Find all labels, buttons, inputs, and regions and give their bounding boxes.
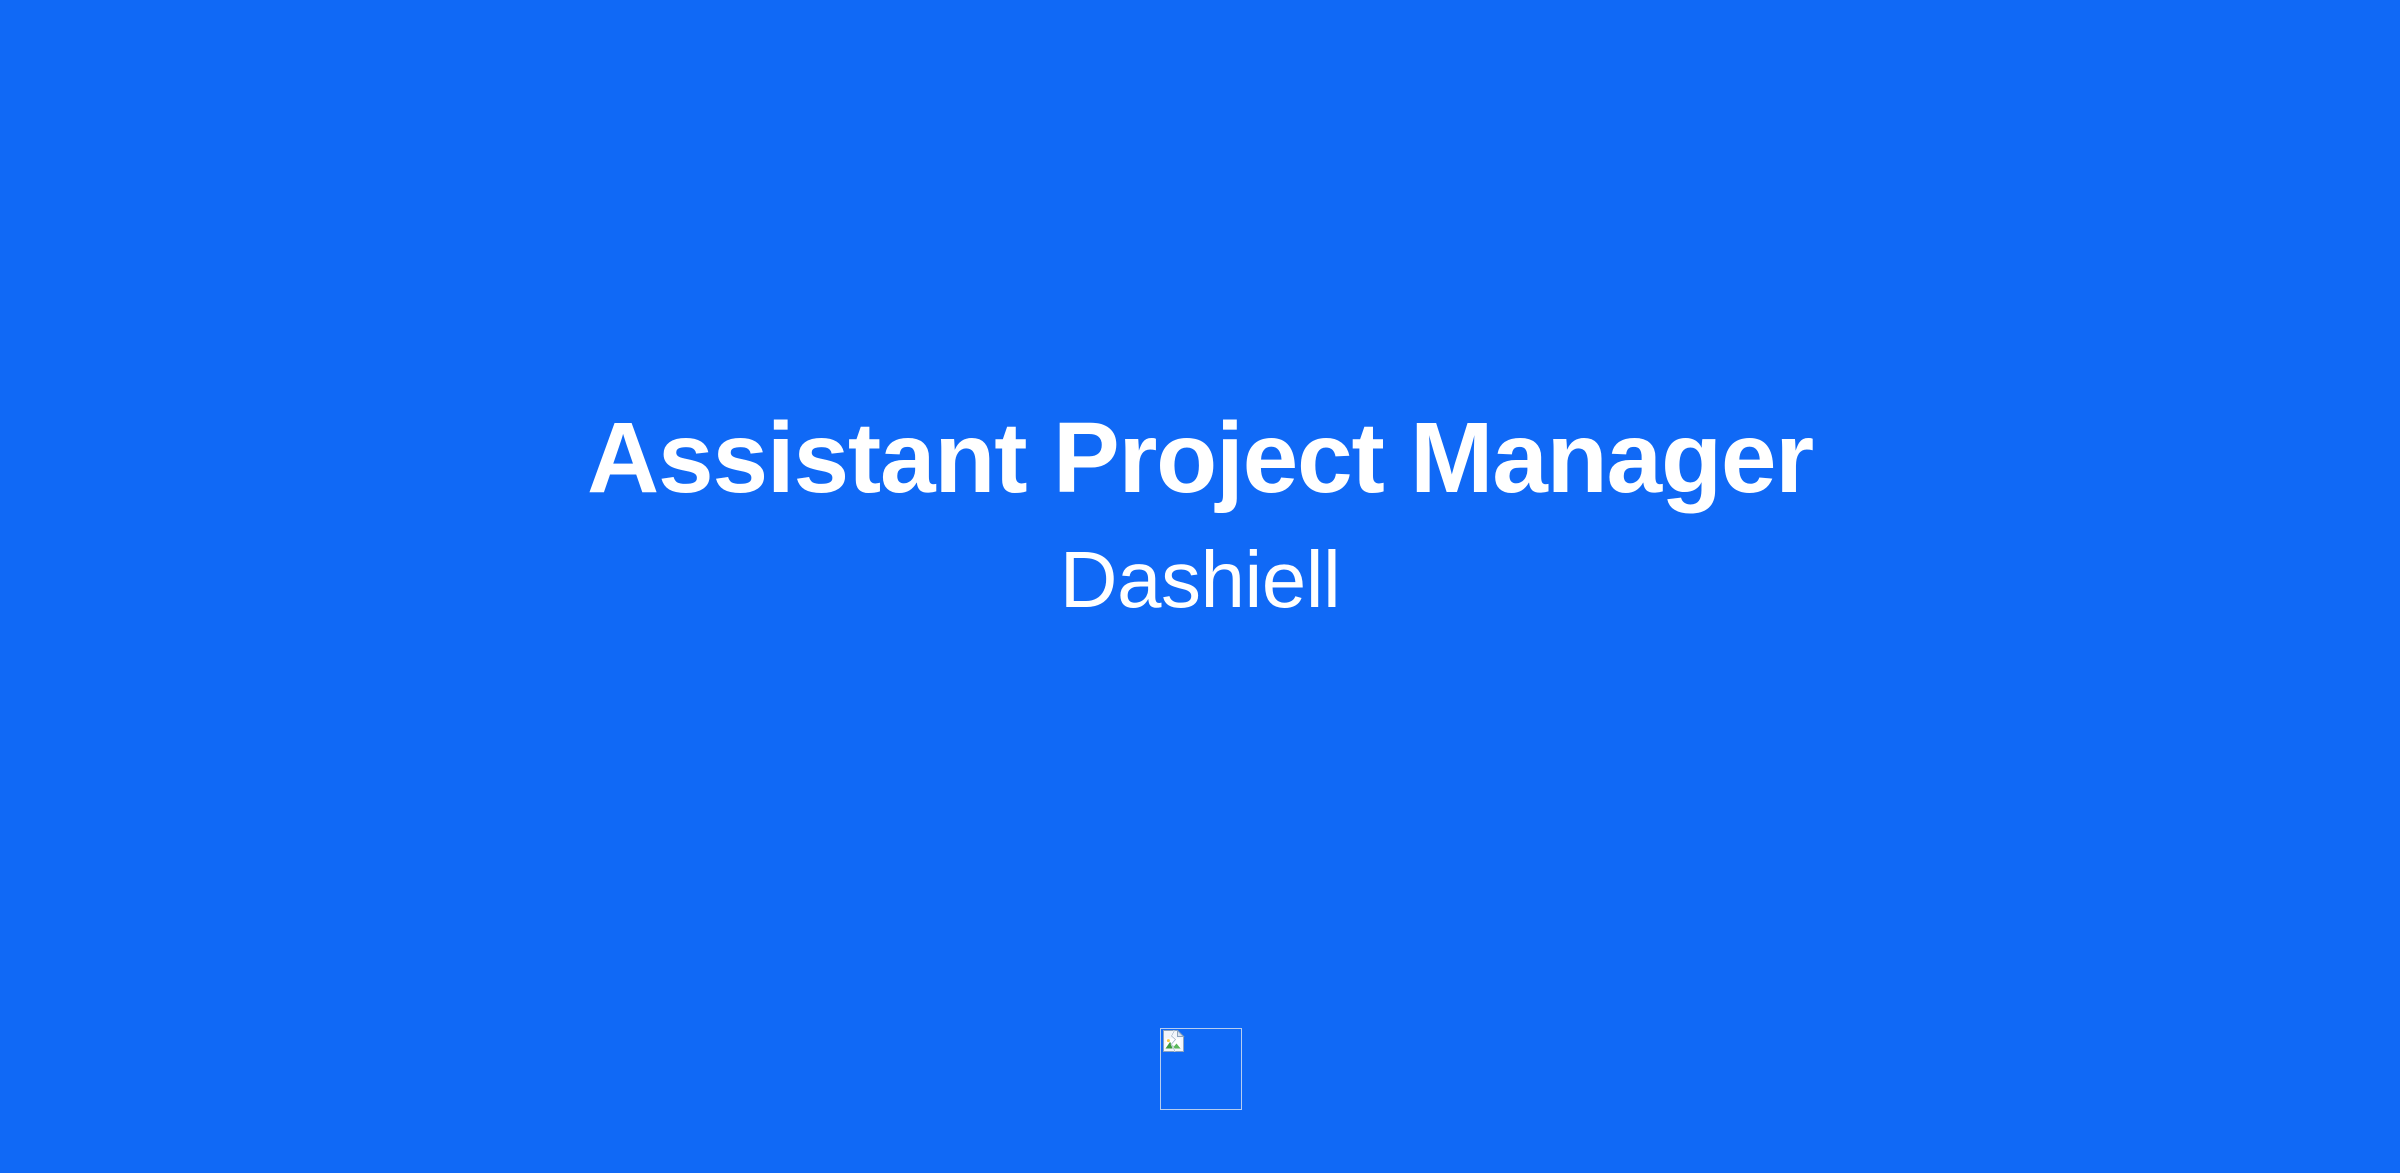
- page-title: Assistant Project Manager: [0, 408, 2400, 508]
- title-slide: Assistant Project Manager Dashiell: [0, 0, 2400, 1173]
- logo-image-placeholder: [1160, 1028, 1242, 1110]
- page-subtitle: Dashiell: [0, 540, 2400, 620]
- broken-image-icon: [1162, 1030, 1186, 1052]
